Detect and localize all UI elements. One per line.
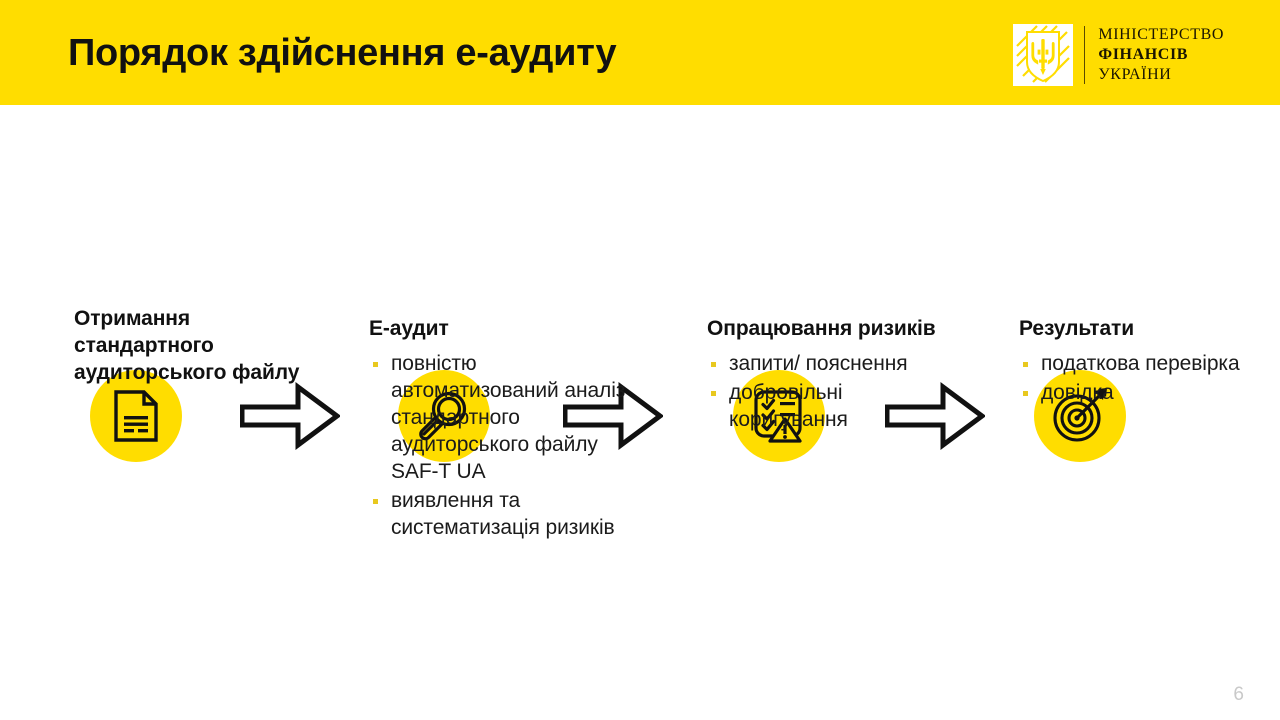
logo-text: МІНІСТЕРСТВО ФІНАНСІВ УКРАЇНИ <box>1098 25 1224 85</box>
list-item: податкова перевірка <box>1019 350 1259 377</box>
column-bullets: запити/ пояснення добровільні коригуванн… <box>707 350 947 433</box>
column-results: Результати податкова перевірка довідка <box>1019 315 1259 408</box>
list-item: повністю автоматизований аналіз стандарт… <box>369 350 627 485</box>
document-icon <box>112 389 160 443</box>
column-heading: Отримання стандартного аудиторського фай… <box>74 305 314 386</box>
list-item: запити/ пояснення <box>707 350 947 377</box>
process-flow-row <box>0 180 1280 295</box>
page-title: Порядок здійснення е-аудиту <box>68 30 616 76</box>
logo-line-ministry: МІНІСТЕРСТВО <box>1098 25 1224 45</box>
logo-line-ukraine: УКРАЇНИ <box>1098 65 1224 85</box>
column-heading: Результати <box>1019 315 1259 342</box>
list-item: виявлення та систематизація ризиків <box>369 487 627 541</box>
column-bullets: повністю автоматизований аналіз стандарт… <box>369 350 627 541</box>
column-e-audit: Е-аудит повністю автоматизований аналіз … <box>369 315 627 543</box>
ministry-logo: МІНІСТЕРСТВО ФІНАНСІВ УКРАЇНИ <box>1013 24 1224 86</box>
column-heading: Е-аудит <box>369 315 627 342</box>
logo-line-finance: ФІНАНСІВ <box>1098 45 1224 65</box>
list-item: довідка <box>1019 379 1259 406</box>
column-risk-processing: Опрацювання ризиків запити/ пояснення до… <box>707 315 947 435</box>
logo-divider <box>1084 26 1085 84</box>
page-number: 6 <box>1233 684 1244 706</box>
column-receipt-of-file: Отримання стандартного аудиторського фай… <box>74 305 314 394</box>
ukraine-trident-emblem <box>1013 24 1073 86</box>
slide-header: Порядок здійснення е-аудиту <box>0 0 1280 105</box>
column-bullets: податкова перевірка довідка <box>1019 350 1259 406</box>
list-item: добровільні коригування <box>707 379 947 433</box>
column-heading: Опрацювання ризиків <box>707 315 947 342</box>
